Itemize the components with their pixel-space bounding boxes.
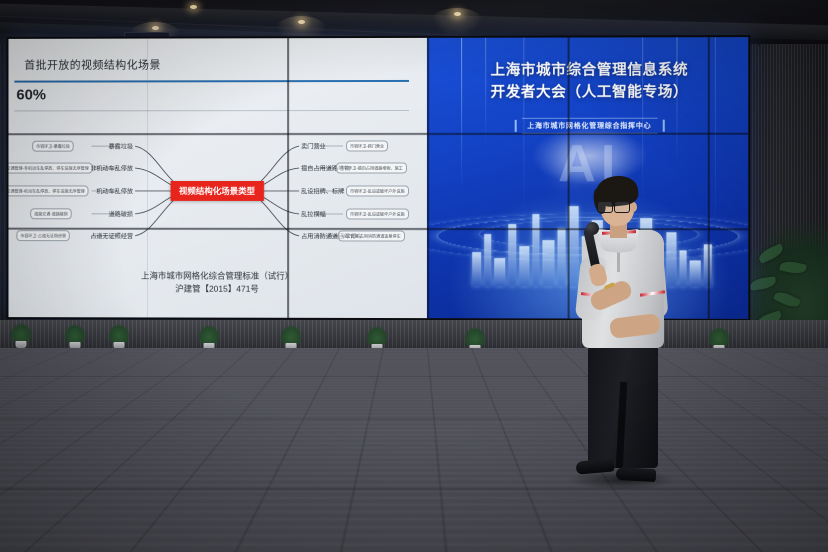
mindmap-leaf-left: 道路破损: [99, 209, 133, 218]
mindmap-subnode-right: 市容环卫-跨门营业: [346, 140, 388, 151]
mindmap-subnode-left: 交通管理-非机动车乱停放、停车设施无序管理: [8, 163, 92, 174]
potted-plant: [8, 322, 34, 348]
event-title: 上海市城市综合管理信息系统 开发者大会（人工智能专场）: [427, 59, 750, 105]
banner-bracket-right: [662, 120, 664, 132]
slide-header: 首批开放的视频结构化场景: [24, 56, 415, 73]
plant-row: [0, 316, 828, 352]
mindmap-subnode-right: 小区管理-占用消防通道违章停车: [338, 230, 405, 241]
plant-leaf: [749, 276, 776, 291]
mindmap-subnode-left: 交通管理-机动车乱停放、停车设施无序管理: [8, 185, 88, 196]
ceiling-spotlight: [190, 5, 197, 9]
mindmap-subnode-left: 市容环卫-占道无证照经营: [16, 230, 70, 241]
conference-room-photo: 首批开放的视频结构化场景 60%: [0, 0, 828, 552]
left-presentation-screen[interactable]: 首批开放的视频结构化场景 60%: [8, 38, 427, 318]
ceiling-spotlight: [454, 12, 461, 16]
mindmap-leaf-left: 机动车乱停放: [84, 186, 134, 195]
event-title-line2: 开发者大会（人工智能专场）: [427, 82, 750, 105]
mindmap-subnode-right: 市容环卫-乱设或破坏户外设施: [346, 208, 409, 219]
plant-leaf: [773, 289, 801, 310]
mindmap-subnode-left: 道路交通-道路破损: [30, 208, 72, 219]
mindmap-center-node: 视频结构化场景类型: [170, 181, 264, 201]
glasses-bridge: [612, 205, 616, 206]
panel-seam: [147, 39, 148, 318]
ceiling-spotlight: [152, 26, 159, 30]
potted-plant: [278, 324, 304, 350]
mindmap-leaf-right: 卖门营业: [301, 142, 326, 151]
video-wall-bezel: [427, 38, 429, 318]
video-wall-bezel: [287, 38, 289, 318]
potted-plant: [62, 323, 88, 349]
potted-plant: [106, 323, 132, 349]
glasses-lens-left: [597, 201, 613, 213]
event-title-line1: 上海市城市综合管理信息系统: [427, 59, 750, 82]
mindmap-leaf-left: 暴露垃圾: [99, 142, 133, 151]
slide-footer: 上海市城市网格化综合管理标准（试行） 沪建管【2015】471号: [8, 269, 427, 295]
banner-bracket-left: [514, 120, 516, 132]
ceiling-spotlight: [298, 20, 305, 24]
mindmap-subnode-right: 市容环卫-擅自占用道路堆物、施工: [336, 162, 407, 173]
speaker-person: [566, 168, 686, 520]
slide-percent: 60%: [16, 87, 46, 104]
glasses-lens-right: [614, 201, 630, 213]
mindmap-subnode-left: 市容环卫-暴露垃圾: [32, 141, 74, 152]
carpet-floor: [0, 348, 828, 552]
plant-leaf: [757, 243, 785, 264]
shoe-right: [616, 467, 657, 482]
mindmap-diagram: 视频结构化场景类型 暴露垃圾 非机动车乱停放 机动车乱停放 道路破损 占道无证照…: [8, 116, 427, 266]
slide-footer-line2: 沪建管【2015】471号: [8, 282, 427, 296]
potted-plant: [196, 324, 222, 350]
mindmap-leaf-left: 占道无证照经营: [72, 231, 133, 240]
video-wall-bezel: [708, 37, 710, 319]
mindmap-subnode-right: 市容环卫-乱设或破坏户外设施: [346, 185, 409, 196]
slide-footer-line1: 上海市城市网格化综合管理标准（试行）: [8, 269, 427, 282]
floor-shading: [0, 348, 828, 552]
mindmap-leaf-right: 乱设招牌、标牌: [301, 186, 344, 195]
mindmap-leaf-right: 乱拉横幅: [301, 209, 326, 218]
plant-leaf: [779, 259, 807, 275]
